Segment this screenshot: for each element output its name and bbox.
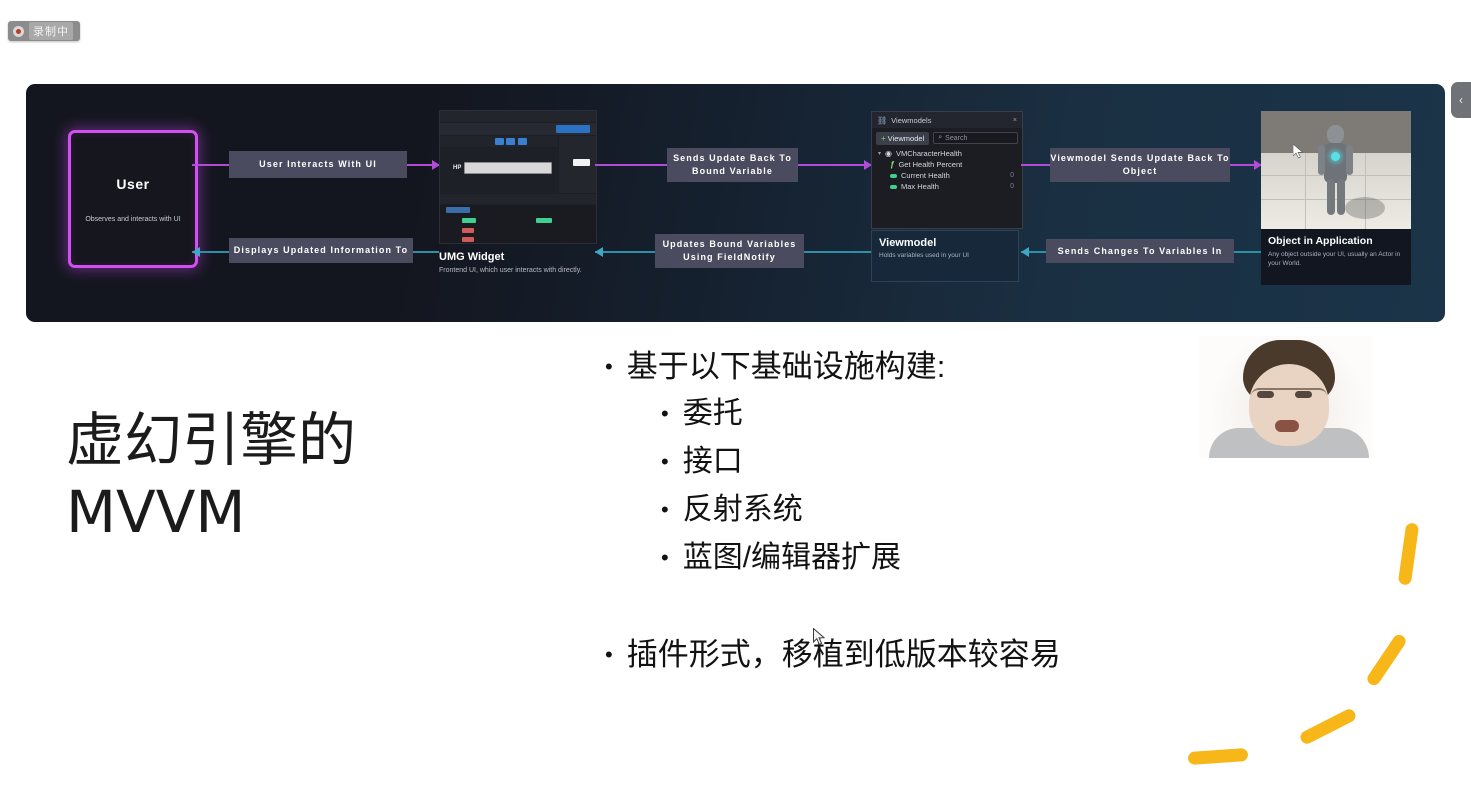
- recording-badge: 录制中: [8, 21, 80, 41]
- chevron-down-icon: ▾: [878, 150, 881, 157]
- umg-editor-screenshot: HP: [439, 110, 597, 244]
- user-node-title: User: [116, 176, 149, 192]
- collapse-panel-button[interactable]: ‹: [1451, 82, 1471, 118]
- mouse-cursor-icon: [813, 628, 826, 646]
- class-icon: ◉: [885, 149, 892, 158]
- bullet-sub-text: 蓝图/编辑器扩展: [683, 534, 901, 582]
- viewmodel-tree-item-class[interactable]: ▾ ◉ VMCharacterHealth: [872, 148, 1022, 159]
- umg-hp-label: HP: [453, 165, 461, 171]
- add-viewmodel-button[interactable]: + Viewmodel: [876, 132, 929, 145]
- object-node-title: Object in Application: [1268, 235, 1404, 247]
- bullet-sub-text: 委托: [683, 390, 743, 438]
- viewmodel-node-title: Viewmodel: [879, 237, 1011, 249]
- bullet-sub-text: 反射系统: [683, 486, 803, 534]
- bullet-dot: •: [661, 534, 669, 582]
- close-icon[interactable]: ×: [1013, 117, 1017, 124]
- tree-item-label: Max Health: [901, 182, 939, 191]
- bullet-main: • 基于以下基础设施构建:: [605, 344, 1245, 390]
- edge-label-updates-bound-variables: Updates Bound Variables Using FieldNotif…: [655, 234, 804, 268]
- object-3d-render: [1261, 111, 1411, 229]
- bullet-sub-1: • 委托: [661, 390, 1245, 438]
- arrowhead-object-to-viewmodel: [1021, 247, 1029, 257]
- bullet-sub-3: • 反射系统: [661, 486, 1245, 534]
- bullet-dot: •: [661, 438, 669, 486]
- user-node-desc: Observes and interacts with UI: [79, 216, 186, 223]
- slide-bullet-list: • 基于以下基础设施构建: • 委托 • 接口 • 反射系统 • 蓝图/编辑器扩…: [605, 344, 1245, 678]
- bullet-dot: •: [605, 344, 613, 390]
- arrowhead-viewmodel-to-umg: [595, 247, 603, 257]
- plus-icon: +: [881, 134, 886, 143]
- arc-dash-1: [1398, 522, 1420, 585]
- tree-item-label: Get Health Percent: [898, 160, 962, 169]
- recording-label: 录制中: [29, 22, 73, 40]
- arc-dash-4: [1188, 748, 1249, 765]
- edge-label-displays-updated: Displays Updated Information To: [229, 238, 413, 263]
- bullet-main-text: 基于以下基础设施构建:: [627, 344, 946, 390]
- function-icon: ƒ: [890, 160, 894, 169]
- mvvm-flow-diagram: User Observes and interacts with UI User…: [26, 84, 1445, 322]
- arc-dash-2: [1365, 632, 1408, 687]
- object-node-desc: Any object outside your UI, usually an A…: [1268, 250, 1404, 268]
- variable-pin-icon: [890, 174, 897, 178]
- slide-title: 虚幻引擎的 MVVM: [66, 404, 496, 548]
- tree-item-value: 0: [1010, 172, 1018, 179]
- tree-item-label: Current Health: [901, 171, 950, 180]
- edge-label-user-interacts: User Interacts With UI: [229, 151, 407, 178]
- chevron-left-icon: ‹: [1459, 93, 1463, 107]
- diagram-node-viewmodel: ⛓ Viewmodels × + Viewmodel ⌕ Search ▾ ◉ …: [871, 111, 1021, 283]
- edge-label-viewmodel-sends-update: Viewmodel Sends Update Back To Object: [1050, 148, 1230, 182]
- search-icon: ⌕: [938, 134, 942, 142]
- webcam-eye-left: [1257, 391, 1274, 398]
- viewmodels-tab-bar: ⛓ Viewmodels ×: [872, 112, 1022, 128]
- viewmodel-tree-item-max-health[interactable]: Max Health 0: [872, 181, 1022, 192]
- slide-title-line1: 虚幻引擎的: [66, 404, 496, 476]
- bullet-dot: •: [661, 390, 669, 438]
- object-caption: Object in Application Any object outside…: [1261, 229, 1411, 285]
- bullet-last: • 插件形式，移植到低版本较容易: [605, 632, 1245, 678]
- webcam-feed[interactable]: [1199, 336, 1373, 458]
- viewmodels-tab-icon: ⛓: [877, 116, 887, 125]
- umg-node-title: UMG Widget: [439, 251, 595, 263]
- record-dot-icon: [13, 26, 24, 37]
- bullet-dot: •: [605, 632, 613, 678]
- bullet-last-text: 插件形式，移植到低版本较容易: [627, 632, 1061, 678]
- variable-pin-icon: [890, 185, 897, 189]
- bullet-sub-4: • 蓝图/编辑器扩展: [661, 534, 1245, 582]
- viewmodel-tree-item-current-health[interactable]: Current Health 0: [872, 170, 1022, 181]
- decorative-dashed-arc: [1170, 505, 1470, 785]
- tree-item-label: VMCharacterHealth: [896, 149, 962, 158]
- add-viewmodel-label: Viewmodel: [888, 134, 925, 143]
- diagram-node-user: User Observes and interacts with UI: [68, 130, 198, 268]
- diagram-node-umg-widget: HP UMG Widget Frontend UI, which user in…: [439, 110, 595, 296]
- render-cursor-icon: [1293, 144, 1304, 164]
- diagram-node-object: Object in Application Any object outside…: [1261, 111, 1411, 285]
- viewmodel-tree-item-function[interactable]: ƒ Get Health Percent: [872, 159, 1022, 170]
- bullet-sub-text: 接口: [683, 438, 743, 486]
- webcam-eye-right: [1295, 391, 1312, 398]
- viewmodel-node-desc: Holds variables used in your UI: [879, 252, 1011, 259]
- edge-label-sends-update-back: Sends Update Back To Bound Variable: [667, 148, 798, 182]
- search-placeholder: Search: [945, 135, 967, 142]
- webcam-mouth: [1275, 420, 1299, 432]
- webcam-face: [1249, 364, 1329, 446]
- bullet-dot: •: [661, 486, 669, 534]
- slide-title-line2: MVVM: [66, 476, 496, 548]
- tree-item-value: 0: [1010, 183, 1018, 190]
- viewmodels-toolbar: + Viewmodel ⌕ Search: [872, 128, 1022, 148]
- bullet-sub-2: • 接口: [661, 438, 1245, 486]
- umg-node-desc: Frontend UI, which user interacts with d…: [439, 266, 589, 275]
- viewmodels-tab-label: Viewmodels: [891, 116, 931, 125]
- viewmodels-panel: ⛓ Viewmodels × + Viewmodel ⌕ Search ▾ ◉ …: [871, 111, 1023, 229]
- viewmodel-caption: Viewmodel Holds variables used in your U…: [871, 230, 1019, 282]
- arc-dash-3: [1298, 707, 1357, 746]
- arrowhead-umg-to-user: [192, 247, 200, 257]
- edge-label-sends-changes: Sends Changes To Variables In: [1046, 239, 1234, 263]
- viewmodel-search-input[interactable]: ⌕ Search: [933, 132, 1018, 144]
